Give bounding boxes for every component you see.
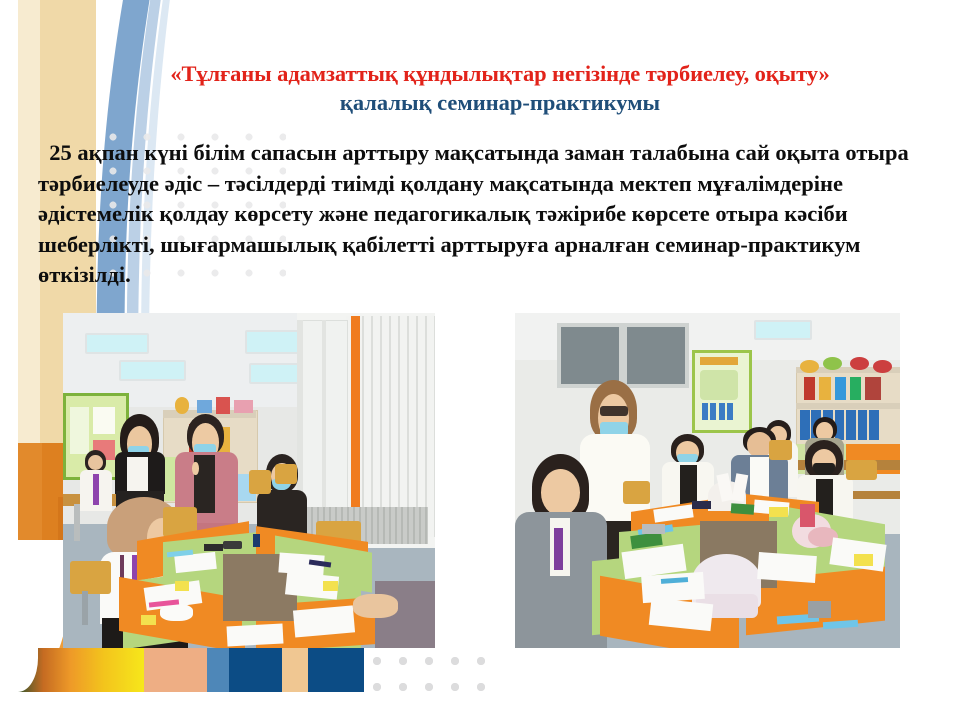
- bottom-dot-pattern: [364, 648, 496, 692]
- bottom-stripe-medium-blue: [207, 648, 229, 692]
- classroom-seminar-photo-left: [63, 313, 435, 648]
- bottom-stripe-tan: [282, 648, 308, 692]
- classroom-seminar-photo-right: [515, 313, 900, 648]
- bottom-stripe-navy-1: [229, 648, 282, 692]
- slide-title: «Тұлғаны адамзаттық құндылықтар негізінд…: [120, 60, 880, 119]
- title-line-primary: «Тұлғаны адамзаттық құндылықтар негізінд…: [120, 60, 880, 88]
- body-paragraph: 25 ақпан күні білім сапасын арттыру мақс…: [38, 138, 918, 291]
- presentation-slide: «Тұлғаны адамзаттық құндылықтар негізінд…: [0, 0, 960, 720]
- bottom-stripe-navy-2: [308, 648, 364, 692]
- decorative-tan-band-highlight: [18, 0, 40, 450]
- title-line-secondary: қалалық семинар-практикумы: [120, 88, 880, 118]
- decorative-bottom-band: [18, 648, 370, 692]
- bottom-stripe-peach: [144, 648, 207, 692]
- decorative-orange-block-light: [18, 443, 42, 545]
